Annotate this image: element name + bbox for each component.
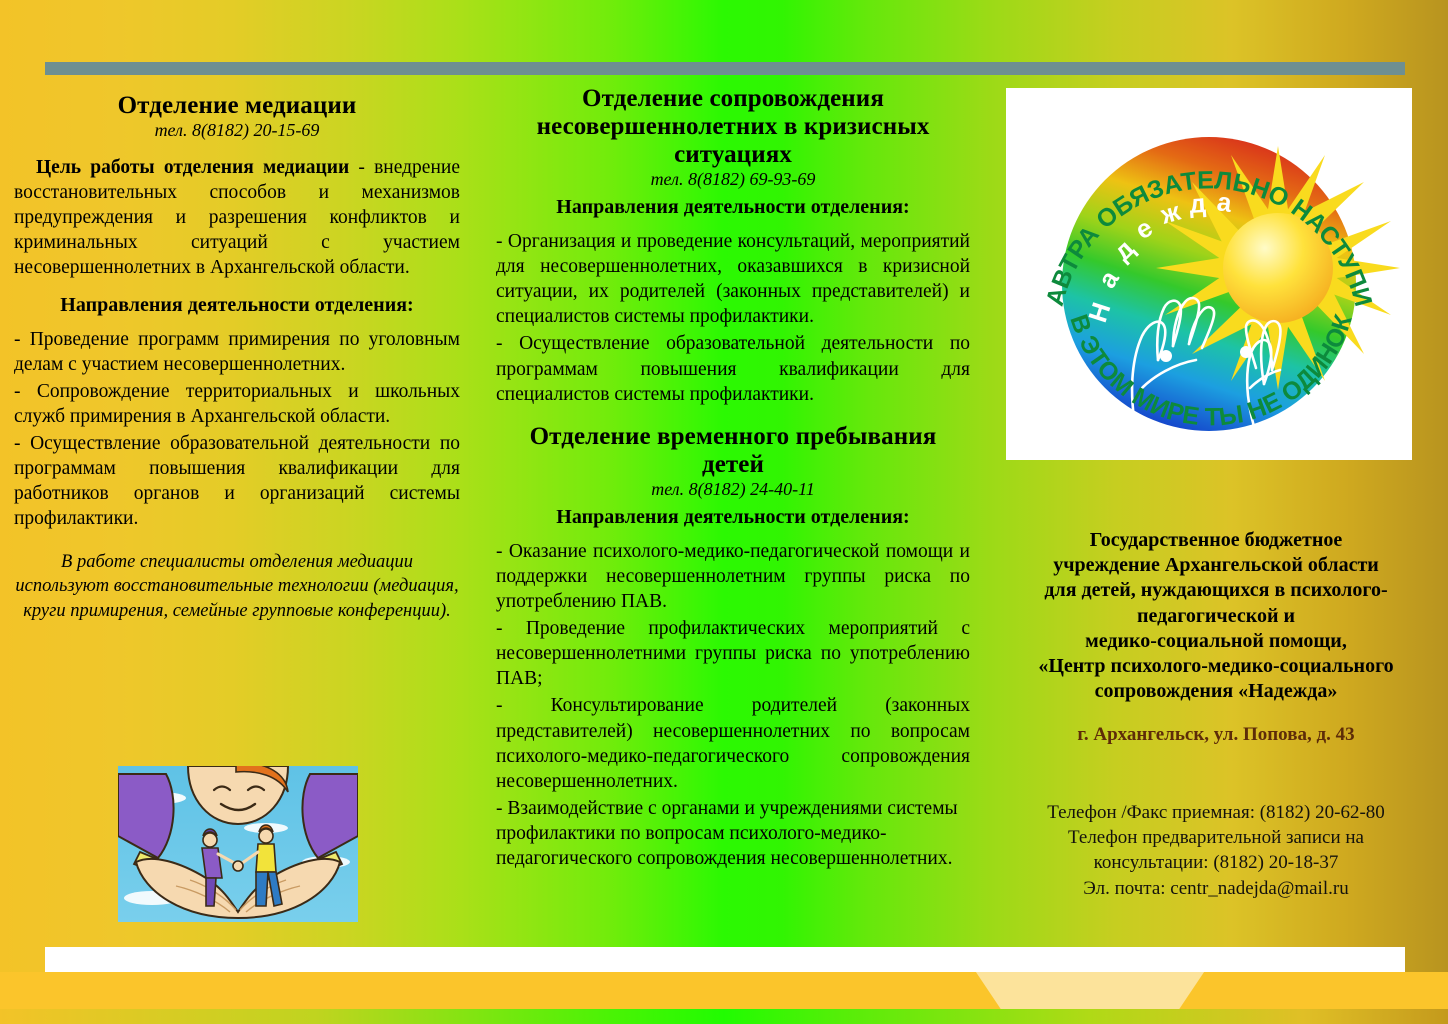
mediation-department-phone: тел. 8(8182) 20-15-69 <box>14 121 460 141</box>
organization-name-line: педагогической и <box>1000 604 1432 629</box>
organization-name-line: для детей, нуждающихся в психолого- <box>1000 578 1432 603</box>
organization-name-line: учреждение Архангельской области <box>1000 553 1432 578</box>
appointment-phone-label: Телефон предварительной записи на <box>1000 825 1432 850</box>
mediation-department-title: Отделение медиации <box>14 92 460 120</box>
right-column: Государственное бюджетное учреждение Арх… <box>1000 528 1432 901</box>
hands-holding-two-people-shaking-hands-illustration <box>118 766 358 922</box>
organization-name-line: Государственное бюджетное <box>1000 528 1432 553</box>
organization-name-line: медико-социальной помощи, <box>1000 629 1432 654</box>
nadezhda-center-logo: Н а д е ж д а ЗАВТРА ОБЯЗАТЕЛЬНО НАСТУПИ… <box>1006 88 1412 460</box>
email-address: Эл. почта: centr_nadejda@mail.ru <box>1000 876 1432 901</box>
mediation-directions-heading: Направления деятельности отделения: <box>14 294 460 317</box>
organization-name: Государственное бюджетное учреждение Арх… <box>1000 528 1432 704</box>
temporary-stay-direction-item: - Консультирование родителей (законных п… <box>496 693 970 794</box>
crisis-support-department-phone: тел. 8(8182) 69-93-69 <box>496 170 970 190</box>
left-column: Отделение медиации тел. 8(8182) 20-15-69… <box>14 92 460 623</box>
mediation-goal-lead: Цель работы отделения медиации <box>36 157 349 178</box>
organization-name-line: сопровождения «Надежда» <box>1000 679 1432 704</box>
temporary-stay-directions-heading: Направления деятельности отделения: <box>496 506 970 529</box>
top-decorative-bar <box>45 62 1405 75</box>
bottom-trapezoid-accent <box>966 972 1214 1009</box>
temporary-stay-department-phone: тел. 8(8182) 24-40-11 <box>496 480 970 500</box>
mediation-goal-paragraph: Цель работы отделения медиации - внедрен… <box>14 155 460 281</box>
mediation-direction-item: - Осуществление образовательной деятельн… <box>14 431 460 532</box>
mediation-direction-item: - Проведение программ примирения по угол… <box>14 327 460 377</box>
bottom-orange-band <box>0 972 1448 1009</box>
brochure-page: Отделение медиации тел. 8(8182) 20-15-69… <box>0 0 1448 1024</box>
crisis-support-direction-item: - Организация и проведение консультаций,… <box>496 229 970 330</box>
appointment-phone-value: консультации: (8182) 20-18-37 <box>1000 850 1432 875</box>
temporary-stay-direction-item: - Взаимодействие с органами и учреждения… <box>496 796 970 871</box>
reception-phone: Телефон /Факс приемная: (8182) 20-62-80 <box>1000 800 1432 825</box>
contact-block: Телефон /Факс приемная: (8182) 20-62-80 … <box>1000 800 1432 900</box>
bottom-white-band <box>45 947 1405 972</box>
crisis-support-department-title: Отделение сопровождения несовершеннолетн… <box>496 85 970 169</box>
organization-name-line: «Центр психолого-медико-социального <box>1000 654 1432 679</box>
mediation-technologies-note: В работе специалисты отделения медиации … <box>14 550 460 624</box>
bottom-green-strip <box>0 1009 1448 1024</box>
temporary-stay-direction-item: - Проведение профилактических мероприяти… <box>496 616 970 691</box>
temporary-stay-department-title: Отделение временного пребывания детей <box>496 423 970 479</box>
temporary-stay-direction-item: - Оказание психолого-медико-педагогическ… <box>496 539 970 614</box>
mediation-direction-item: - Сопровождение территориальных и школьн… <box>14 379 460 429</box>
organization-address: г. Архангельск, ул. Попова, д. 43 <box>1000 724 1432 746</box>
middle-column: Отделение сопровождения несовершеннолетн… <box>496 85 970 873</box>
crisis-support-directions-heading: Направления деятельности отделения: <box>496 196 970 219</box>
crisis-support-direction-item: - Осуществление образовательной деятельн… <box>496 331 970 406</box>
